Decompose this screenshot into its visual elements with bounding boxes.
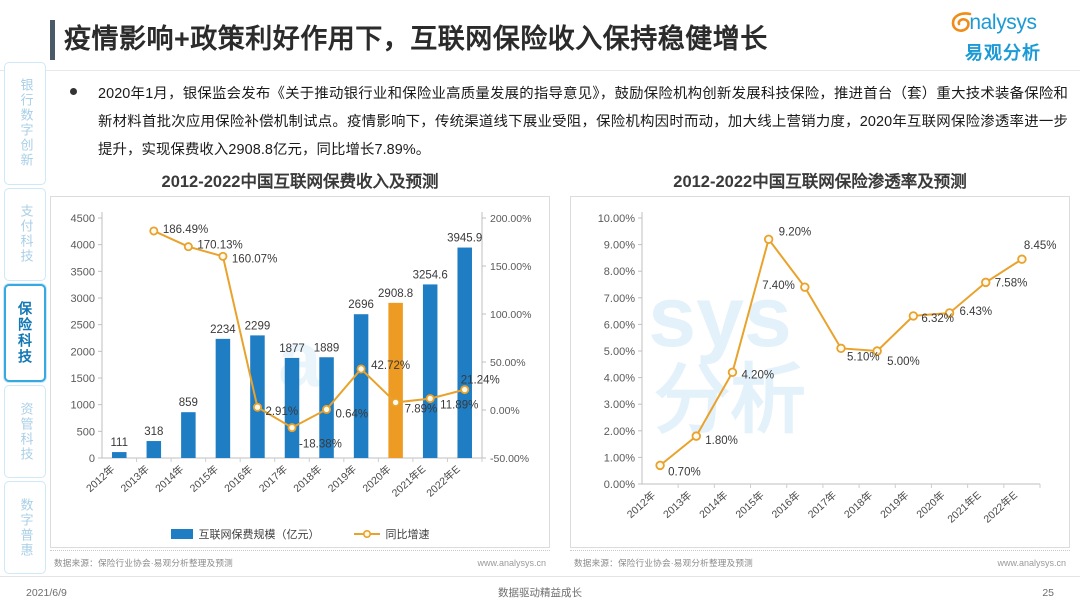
header-divider [0, 70, 1080, 71]
svg-text:2013年: 2013年 [660, 489, 694, 521]
svg-text:2019年: 2019年 [325, 463, 359, 495]
chart-source-url-right: www.analysys.cn [997, 558, 1066, 568]
svg-text:2018年: 2018年 [291, 463, 325, 495]
svg-text:2000: 2000 [71, 346, 95, 358]
svg-text:1.80%: 1.80% [705, 435, 738, 447]
svg-text:2019年: 2019年 [878, 489, 912, 521]
svg-text:3500: 3500 [71, 266, 95, 278]
svg-text:2022年E: 2022年E [424, 463, 463, 500]
chart-title-penetration: 2012-2022中国互联网保险渗透率及预测 [570, 168, 1070, 192]
svg-text:100.00%: 100.00% [490, 309, 531, 321]
svg-text:8.00%: 8.00% [604, 266, 635, 278]
svg-text:2018年: 2018年 [841, 489, 875, 521]
svg-text:2015年: 2015年 [187, 463, 221, 495]
svg-text:2022年E: 2022年E [981, 489, 1020, 526]
page-title: 疫情影响+政策利好作用下，互联网保险收入保持稳健增长 [64, 17, 768, 56]
svg-text:-50.00%: -50.00% [490, 453, 529, 465]
bullet-paragraph-block: 2020年1月，银保监会发布《关于推动银行业和保险业高质量发展的指导意见》，鼓励… [70, 80, 1068, 164]
svg-text:2020年: 2020年 [360, 463, 394, 495]
svg-text:4000: 4000 [71, 240, 95, 252]
chart-legend-premium-income: 互联网保费规模（亿元） 同比增速 [50, 526, 550, 542]
svg-text:11.89%: 11.89% [440, 400, 478, 412]
svg-text:2014年: 2014年 [153, 463, 187, 495]
svg-text:42.72%: 42.72% [371, 360, 410, 372]
svg-text:2.00%: 2.00% [604, 426, 635, 438]
chart-panel-premium-income: 2012-2022中国互联网保费收入及预测 a05001000150020002… [50, 168, 550, 574]
slide-root: 疫情影响+政策利好作用下，互联网保险收入保持稳健增长 nalysys 易观分析 … [0, 0, 1080, 608]
svg-text:859: 859 [179, 397, 198, 409]
svg-text:2696: 2696 [348, 299, 374, 311]
svg-text:0.00%: 0.00% [490, 405, 520, 417]
svg-text:2021年E: 2021年E [945, 489, 984, 526]
svg-text:8.45%: 8.45% [1024, 240, 1057, 252]
svg-text:186.49%: 186.49% [163, 224, 208, 236]
svg-text:6.32%: 6.32% [921, 313, 954, 325]
svg-text:2016年: 2016年 [769, 489, 803, 521]
svg-text:4.20%: 4.20% [741, 369, 774, 381]
svg-text:10.00%: 10.00% [598, 213, 636, 225]
svg-text:2299: 2299 [245, 320, 271, 332]
svg-text:3254.6: 3254.6 [413, 269, 448, 281]
legend-item-bar: 互联网保费规模（亿元） [171, 526, 320, 542]
slide-footer: 2021/6/9 数据驱动精益成长 25 [0, 577, 1080, 608]
svg-text:160.07%: 160.07% [232, 253, 277, 265]
svg-text:2013年: 2013年 [118, 463, 152, 495]
footer-page-number: 25 [1042, 587, 1054, 599]
svg-text:1000: 1000 [71, 400, 95, 412]
svg-text:6.00%: 6.00% [604, 319, 635, 331]
chart-canvas-premium-income: a050010001500200025003000350040004500-50… [50, 196, 550, 548]
sidebar-item-insurance-tech[interactable]: 保险科技 [4, 284, 46, 383]
chart-source-url-left: www.analysys.cn [477, 558, 546, 568]
svg-text:2.91%: 2.91% [265, 406, 298, 418]
svg-text:111: 111 [111, 437, 128, 449]
svg-text:-18.38%: -18.38% [299, 439, 342, 451]
svg-text:5.00%: 5.00% [887, 356, 920, 368]
title-accent-bar [50, 20, 55, 60]
svg-text:6.43%: 6.43% [960, 306, 993, 318]
legend-label-line: 同比增速 [386, 526, 430, 542]
sidebar-item-payment-tech[interactable]: 支付科技 [4, 188, 46, 281]
svg-text:1500: 1500 [71, 373, 95, 385]
svg-text:7.00%: 7.00% [604, 293, 635, 305]
chart-source-text-right: 数据来源：保险行业协会·易观分析整理及预测 [574, 557, 753, 569]
svg-text:50.00%: 50.00% [490, 357, 526, 369]
svg-text:4.00%: 4.00% [604, 373, 635, 385]
bullet-dot-icon [70, 88, 77, 95]
legend-swatch-bar-icon [171, 529, 193, 539]
svg-text:1877: 1877 [279, 343, 305, 355]
svg-text:2017年: 2017年 [805, 489, 839, 521]
svg-text:2908.8: 2908.8 [378, 288, 413, 300]
svg-text:200.00%: 200.00% [490, 213, 531, 225]
analysys-wordmark: nalysys [944, 11, 1062, 35]
svg-text:1889: 1889 [314, 342, 340, 354]
svg-text:170.13%: 170.13% [197, 240, 242, 252]
svg-text:2500: 2500 [71, 320, 95, 332]
svg-text:2017年: 2017年 [256, 463, 290, 495]
legend-swatch-line-icon [354, 529, 380, 539]
svg-text:4500: 4500 [71, 213, 95, 225]
sidebar-item-asset-management-tech[interactable]: 资管科技 [4, 385, 46, 478]
sidebar-nav[interactable]: 银行数字创新 支付科技 保险科技 资管科技 数字普惠 [4, 62, 46, 574]
svg-text:2015年: 2015年 [733, 489, 767, 521]
svg-text:2234: 2234 [210, 324, 236, 336]
svg-text:7.89%: 7.89% [405, 403, 438, 415]
svg-text:0: 0 [89, 453, 95, 465]
legend-label-bar: 互联网保费规模（亿元） [199, 526, 320, 542]
svg-text:0.00%: 0.00% [604, 479, 635, 491]
chart-source-footer-right: 数据来源：保险行业协会·易观分析整理及预测 www.analysys.cn [570, 550, 1070, 574]
slide-header: 疫情影响+政策利好作用下，互联网保险收入保持稳健增长 nalysys 易观分析 [0, 0, 1080, 72]
sidebar-item-digital-inclusive[interactable]: 数字普惠 [4, 481, 46, 574]
svg-text:150.00%: 150.00% [490, 261, 531, 273]
svg-text:2020年: 2020年 [914, 489, 948, 521]
svg-text:2012年: 2012年 [83, 463, 117, 495]
svg-text:500: 500 [77, 426, 95, 438]
svg-text:2014年: 2014年 [697, 489, 731, 521]
svg-text:0.64%: 0.64% [336, 408, 369, 420]
svg-text:3.00%: 3.00% [604, 399, 635, 411]
svg-text:9.20%: 9.20% [779, 226, 812, 238]
svg-text:7.40%: 7.40% [762, 280, 795, 292]
svg-text:2016年: 2016年 [222, 463, 256, 495]
svg-text:5.00%: 5.00% [604, 346, 635, 358]
svg-text:5.10%: 5.10% [847, 351, 880, 363]
analysys-chinese-name: 易观分析 [944, 39, 1062, 65]
chart-panel-penetration: 2012-2022中国互联网保险渗透率及预测 sys分析0.00%1.00%2.… [570, 168, 1070, 574]
svg-text:2012年: 2012年 [624, 489, 658, 521]
chart-canvas-penetration: sys分析0.00%1.00%2.00%3.00%4.00%5.00%6.00%… [570, 196, 1070, 548]
bullet-paragraph-text: 2020年1月，银保监会发布《关于推动银行业和保险业高质量发展的指导意见》，鼓励… [98, 80, 1068, 164]
chart-source-text-left: 数据来源：保险行业协会·易观分析整理及预测 [54, 557, 233, 569]
chart-source-footer-left: 数据来源：保险行业协会·易观分析整理及预测 www.analysys.cn [50, 550, 550, 574]
svg-text:1.00%: 1.00% [604, 452, 635, 464]
chart-title-premium-income: 2012-2022中国互联网保费收入及预测 [50, 168, 550, 192]
footer-slogan: 数据驱动精益成长 [0, 585, 1080, 600]
legend-item-line: 同比增速 [354, 526, 430, 542]
analysys-logo: nalysys 易观分析 [944, 9, 1062, 65]
sidebar-item-bank-digital-innovation[interactable]: 银行数字创新 [4, 62, 46, 185]
svg-text:0.70%: 0.70% [668, 466, 701, 478]
svg-text:9.00%: 9.00% [604, 240, 635, 252]
svg-text:3945.9: 3945.9 [447, 233, 482, 245]
svg-text:21.24%: 21.24% [461, 375, 500, 387]
svg-text:318: 318 [144, 426, 163, 438]
svg-text:3000: 3000 [71, 293, 95, 305]
svg-text:7.58%: 7.58% [995, 277, 1028, 289]
svg-text:2021年E: 2021年E [389, 463, 428, 500]
